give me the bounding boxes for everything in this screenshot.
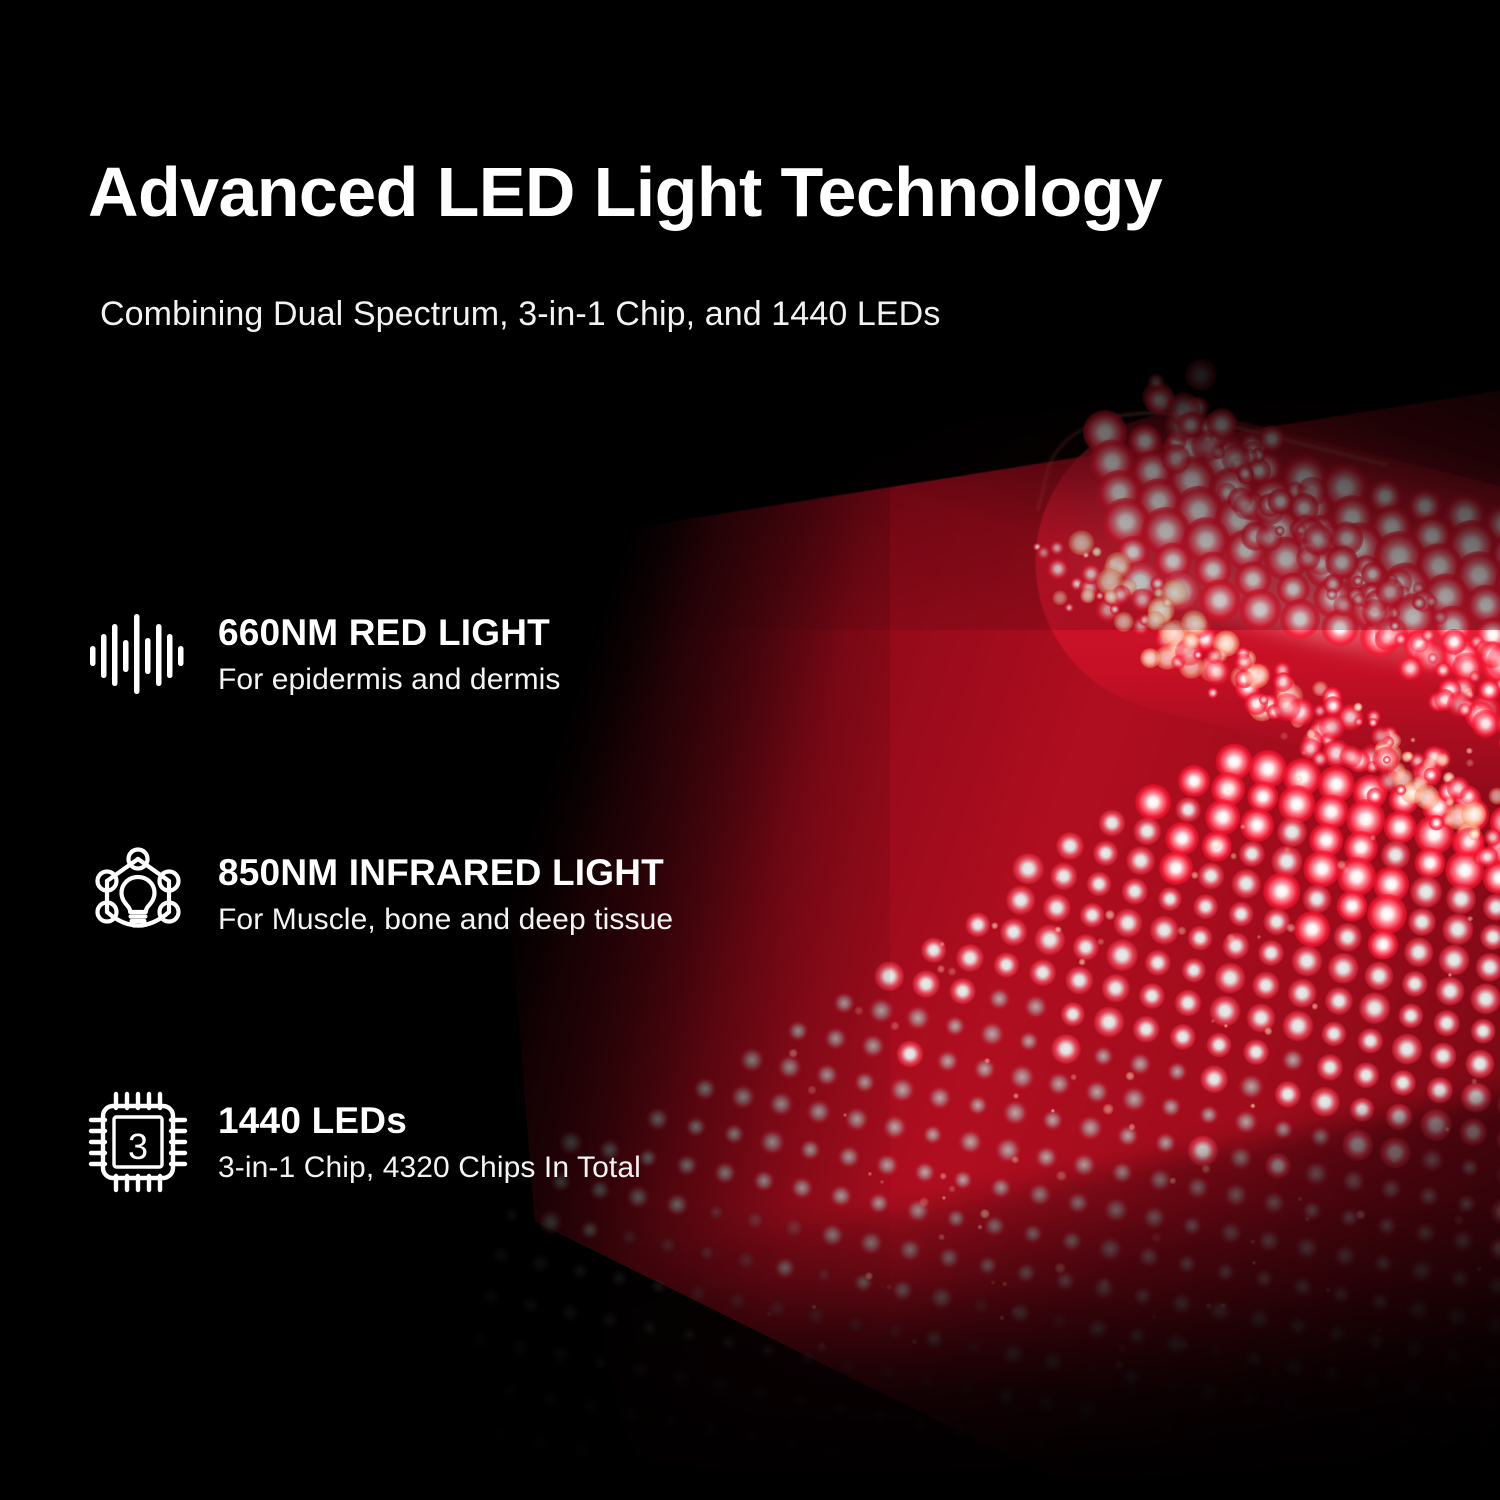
feature-item-850nm: 850NM INFRARED LIGHT For Muscle, bone an… bbox=[84, 840, 673, 948]
chip-badge-number: 3 bbox=[128, 1126, 148, 1167]
page-subtitle: Combining Dual Spectrum, 3-in-1 Chip, an… bbox=[100, 295, 940, 334]
feature-description: For epidermis and dermis bbox=[218, 662, 561, 698]
lightbulb-network-icon bbox=[84, 840, 192, 948]
feature-text-1440-leds: 1440 LEDs 3-in-1 Chip, 4320 Chips In Tot… bbox=[218, 1088, 641, 1186]
feature-description: 3-in-1 Chip, 4320 Chips In Total bbox=[218, 1150, 641, 1186]
promo-banner: Advanced LED Light Technology Combining … bbox=[0, 0, 1500, 1500]
chip-icon: 3 bbox=[84, 1088, 192, 1196]
feature-description: For Muscle, bone and deep tissue bbox=[218, 902, 673, 938]
page-title: Advanced LED Light Technology bbox=[88, 152, 1162, 232]
waveform-icon bbox=[84, 600, 192, 708]
feature-title: 850NM INFRARED LIGHT bbox=[218, 852, 673, 893]
feature-title: 1440 LEDs bbox=[218, 1100, 641, 1141]
feature-item-660nm: 660NM RED LIGHT For epidermis and dermis bbox=[84, 600, 561, 708]
feature-text-660nm: 660NM RED LIGHT For epidermis and dermis bbox=[218, 600, 561, 698]
feature-item-1440-leds: 3 1440 LEDs 3-in-1 Chip, 4320 Chips In T… bbox=[84, 1088, 641, 1196]
feature-title: 660NM RED LIGHT bbox=[218, 612, 561, 653]
feature-text-850nm: 850NM INFRARED LIGHT For Muscle, bone an… bbox=[218, 840, 673, 938]
